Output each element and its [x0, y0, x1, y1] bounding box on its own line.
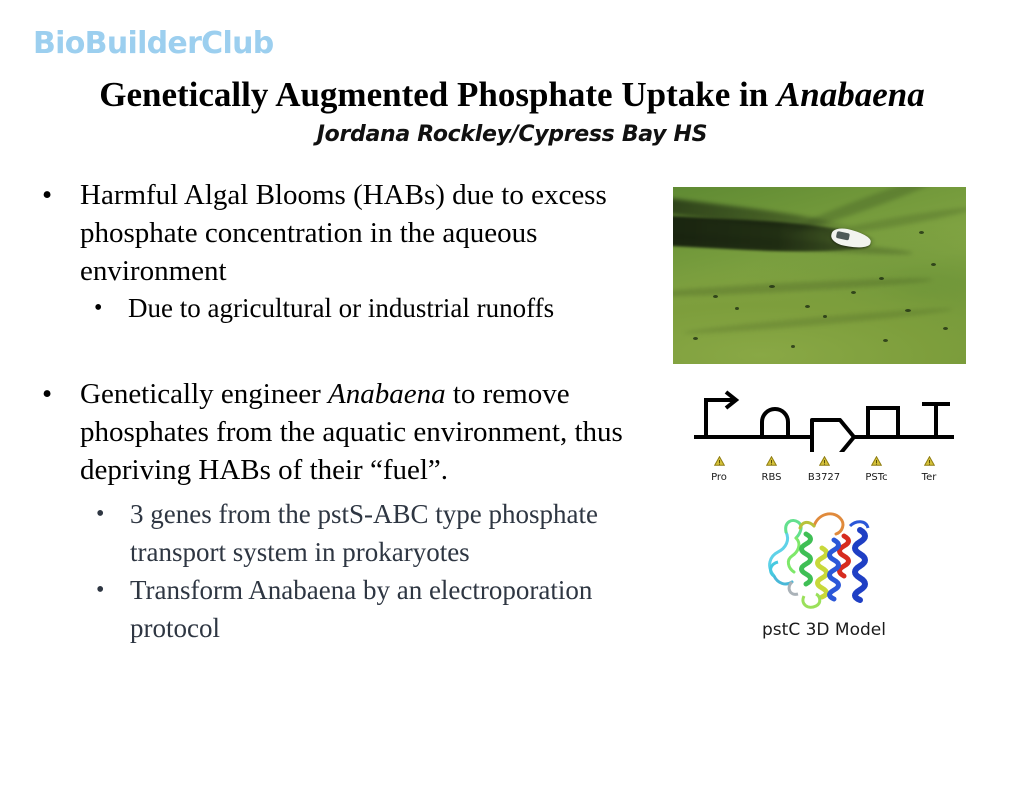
subbullet-marker: •: [96, 495, 104, 533]
bullet-item-2: • Genetically engineer Anabaena to remov…: [30, 375, 670, 489]
terminator-glyph: [922, 404, 950, 437]
construct-part-labels: Pro RBS B3727 PSTc Ter: [694, 456, 954, 494]
algal-bloom-photo: [673, 187, 966, 364]
body-content: • Harmful Algal Blooms (HABs) due to exc…: [30, 176, 670, 647]
warning-triangle-icon: [694, 456, 744, 470]
bloom-fleck: [713, 295, 718, 298]
bullet-spacer: [30, 327, 670, 375]
box-glyph: [868, 408, 898, 437]
bloom-fleck: [943, 327, 948, 330]
bloom-fleck: [851, 291, 856, 294]
bloom-fleck: [931, 263, 936, 266]
page-title-species: Anabaena: [777, 75, 925, 114]
bloom-fleck: [735, 307, 739, 310]
subbullet-text: 3 genes from the pstS-ABC type phosphate…: [130, 499, 598, 567]
subbullet-item-2a: • 3 genes from the pstS-ABC type phospha…: [30, 495, 670, 571]
protein-3d-model: [756, 500, 886, 618]
subbullet-text: Due to agricultural or industrial runoff…: [128, 293, 554, 323]
bloom-fleck: [919, 231, 924, 234]
bloom-fleck: [791, 345, 795, 348]
warning-triangle-icon: [904, 456, 954, 470]
bloom-fleck: [823, 315, 827, 318]
protein-model-caption: pstC 3D Model: [694, 620, 954, 640]
construct-part-pro: Pro: [694, 456, 744, 494]
bullet-text: Harmful Algal Blooms (HABs) due to exces…: [80, 179, 607, 287]
biobuilderclub-logo: BioBuilderClub: [33, 29, 274, 59]
part-label: B3727: [799, 471, 849, 484]
part-label: Ter: [904, 471, 954, 484]
part-label: Pro: [694, 471, 744, 484]
warning-triangle-icon: [747, 456, 797, 470]
bullet-text-before: Genetically engineer: [80, 378, 328, 410]
subbullet-text: Transform Anabaena by an electroporation…: [130, 575, 592, 643]
subbullet-marker: •: [96, 571, 104, 609]
slide: BioBuilderClub Genetically Augmented Pho…: [0, 0, 1024, 791]
construct-part-ter: Ter: [904, 456, 954, 494]
bloom-fleck: [905, 309, 911, 312]
warning-triangle-icon: [799, 456, 849, 470]
cds-glyph: [812, 420, 854, 452]
bullet-marker: •: [42, 176, 52, 214]
part-label: RBS: [747, 471, 797, 484]
page-title: Genetically Augmented Phosphate Uptake i…: [0, 76, 1024, 115]
warning-triangle-icon: [852, 456, 902, 470]
subbullet-item-2b: • Transform Anabaena by an electroporati…: [30, 571, 670, 647]
bloom-fleck: [693, 337, 698, 340]
construct-part-b3727: B3727: [799, 456, 849, 494]
page-subtitle: Jordana Rockley/Cypress Bay HS: [0, 122, 1024, 148]
page-title-text: Genetically Augmented Phosphate Uptake i…: [99, 75, 777, 114]
part-label: PSTc: [852, 471, 902, 484]
rbs-glyph: [762, 409, 788, 437]
subbullet-item-1a: • Due to agricultural or industrial runo…: [30, 290, 670, 327]
bloom-fleck: [769, 285, 775, 288]
genetic-construct-diagram: [694, 382, 954, 452]
bullet-marker: •: [42, 375, 52, 413]
bullet-item-1: • Harmful Algal Blooms (HABs) due to exc…: [30, 176, 670, 290]
construct-part-pstc: PSTc: [852, 456, 902, 494]
bloom-fleck: [805, 305, 810, 308]
construct-part-rbs: RBS: [747, 456, 797, 494]
bloom-fleck: [879, 277, 884, 280]
subbullet-marker: •: [94, 290, 102, 327]
bloom-fleck: [883, 339, 888, 342]
bullet-species: Anabaena: [328, 378, 446, 410]
promoter-glyph: [706, 392, 736, 437]
